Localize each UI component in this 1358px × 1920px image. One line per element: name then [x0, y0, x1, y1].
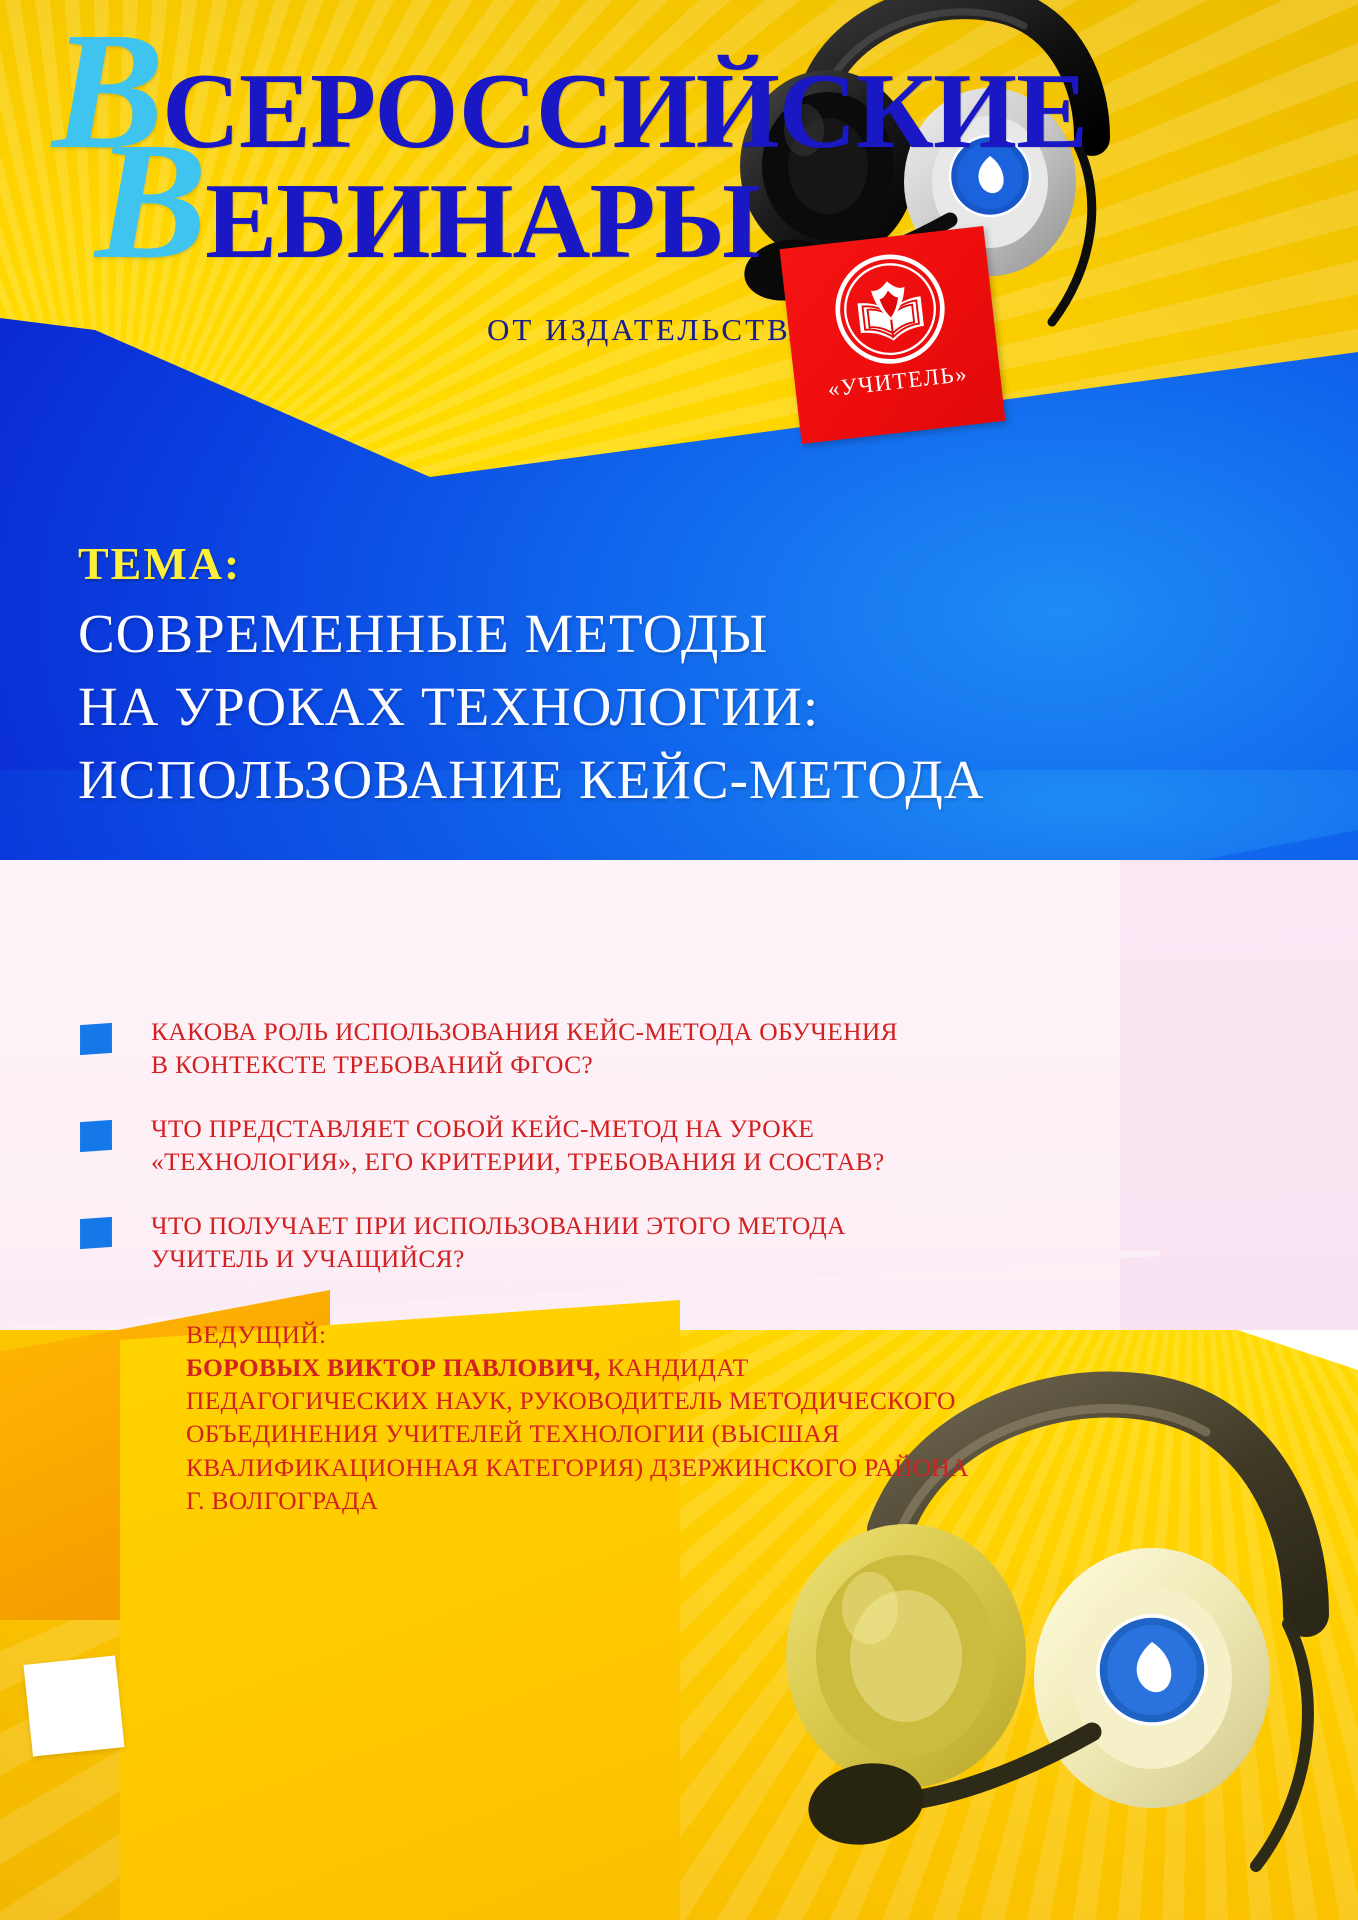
question-2-line-1: ЧТО ПРЕДСТАВЛЯЕТ СОБОЙ КЕЙС-МЕТОД НА УРО… [151, 1112, 884, 1145]
open-book-tulip-emblem-icon [828, 247, 952, 371]
list-item: ЧТО ПРЕДСТАВЛЯЕТ СОБОЙ КЕЙС-МЕТОД НА УРО… [80, 1112, 1140, 1179]
header-word-vebinary: ЕБИНАРЫ [205, 173, 759, 270]
topic-title-line-3: ИСПОЛЬЗОВАНИЕ КЕЙС-МЕТОДА [78, 743, 1208, 816]
presenter-desc-line-2: ПЕДАГОГИЧЕСКИХ НАУК, РУКОВОДИТЕЛЬ МЕТОДИ… [186, 1384, 1186, 1417]
question-1-line-2: В КОНТЕКСТЕ ТРЕБОВАНИЙ ФГОС? [151, 1048, 898, 1081]
bullet-square-icon [80, 1120, 112, 1152]
topic-title: СОВРЕМЕННЫЕ МЕТОДЫ НА УРОКАХ ТЕХНОЛОГИИ:… [78, 597, 1208, 816]
presenter-name: БОРОВЫХ ВИКТОР ПАВЛОВИЧ, [186, 1353, 601, 1382]
question-2-line-2: «ТЕХНОЛОГИЯ», ЕГО КРИТЕРИИ, ТРЕБОВАНИЯ И… [151, 1145, 884, 1178]
question-text: ЧТО ПРЕДСТАВЛЯЕТ СОБОЙ КЕЙС-МЕТОД НА УРО… [151, 1112, 884, 1179]
body-panel-right-tint [1120, 860, 1358, 1330]
bullet-square-icon [80, 1216, 112, 1248]
header-line-2: В ЕБИНАРЫ [95, 136, 760, 270]
publisher-prefix-label: ОТ ИЗДАТЕЛЬСТВА [487, 312, 814, 348]
presenter-details: БОРОВЫХ ВИКТОР ПАВЛОВИЧ, КАНДИДАТ ПЕДАГО… [186, 1351, 1186, 1517]
question-1-line-1: КАКОВА РОЛЬ ИСПОЛЬЗОВАНИЯ КЕЙС-МЕТОДА ОБ… [151, 1015, 898, 1048]
question-text: ЧТО ПОЛУЧАЕТ ПРИ ИСПОЛЬЗОВАНИИ ЭТОГО МЕТ… [151, 1209, 846, 1276]
presenter-desc-line-3: ОБЪЕДИНЕНИЯ УЧИТЕЛЕЙ ТЕХНОЛОГИИ (ВЫСШАЯ [186, 1417, 1186, 1450]
list-item: ЧТО ПОЛУЧАЕТ ПРИ ИСПОЛЬЗОВАНИИ ЭТОГО МЕТ… [80, 1209, 1140, 1276]
topic-title-line-2: НА УРОКАХ ТЕХНОЛОГИИ: [78, 670, 1208, 743]
question-3-line-2: УЧИТЕЛЬ И УЧАЩИЙСЯ? [151, 1242, 846, 1275]
topic-title-line-1: СОВРЕМЕННЫЕ МЕТОДЫ [78, 597, 1208, 670]
presenter-desc-line-4: КВАЛИФИКАЦИОННАЯ КАТЕГОРИЯ) ДЗЕРЖИНСКОГО… [186, 1451, 1186, 1484]
question-list: КАКОВА РОЛЬ ИСПОЛЬЗОВАНИЯ КЕЙС-МЕТОДА ОБ… [80, 1015, 1140, 1305]
question-text: КАКОВА РОЛЬ ИСПОЛЬЗОВАНИЯ КЕЙС-МЕТОДА ОБ… [151, 1015, 898, 1082]
bullet-square-icon [80, 1023, 112, 1055]
presenter-desc-line-1: КАНДИДАТ [601, 1353, 749, 1382]
poster-canvas: В СЕРОССИЙСКИЕ В ЕБИНАРЫ ОТ ИЗДАТЕЛЬСТВА… [0, 0, 1358, 1920]
publisher-logo-card: «УЧИТЕЛЬ» [780, 226, 1006, 444]
question-3-line-1: ЧТО ПОЛУЧАЕТ ПРИ ИСПОЛЬЗОВАНИИ ЭТОГО МЕТ… [151, 1209, 846, 1242]
presenter-block: ВЕДУЩИЙ: БОРОВЫХ ВИКТОР ПАВЛОВИЧ, КАНДИД… [186, 1318, 1186, 1517]
presenter-desc-line-5: Г. ВОЛГОГРАДА [186, 1484, 1186, 1517]
topic-label: ТЕМА: [78, 537, 241, 590]
presenter-label: ВЕДУЩИЙ: [186, 1318, 1186, 1351]
bottom-white-square-decor [23, 1655, 124, 1756]
header-initial-v-2: В [95, 136, 205, 267]
list-item: КАКОВА РОЛЬ ИСПОЛЬЗОВАНИЯ КЕЙС-МЕТОДА ОБ… [80, 1015, 1140, 1082]
